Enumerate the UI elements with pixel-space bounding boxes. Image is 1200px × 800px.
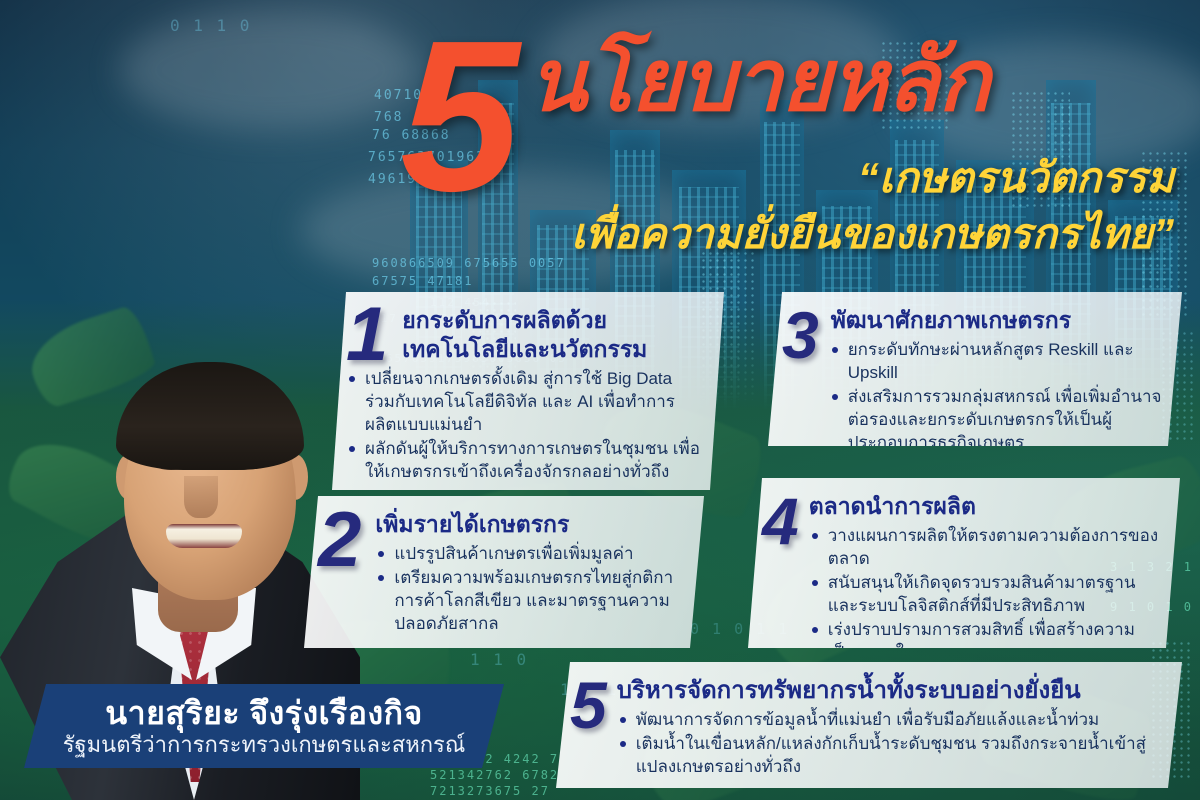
subtitle-line-2: เพื่อความยั่งยืนของเกษตรกรไทย” bbox=[534, 206, 1174, 262]
policy-title-1: ยกระดับการผลิตด้วย เทคโนโลยีและนวัตกรรม bbox=[402, 306, 706, 364]
big-number-five: 5 bbox=[400, 8, 512, 223]
list-item: วางแผนการผลิตให้ตรงตามความต้องการของตลาด bbox=[809, 524, 1162, 570]
policy-title-5: บริหารจัดการทรัพยากรน้ำทั้งระบบอย่างยั่ง… bbox=[617, 676, 1164, 705]
list-item: เปลี่ยนจากเกษตรดั้งเดิม สู่การใช้ Big Da… bbox=[346, 367, 706, 436]
policy-bullets-1: เปลี่ยนจากเกษตรดั้งเดิม สู่การใช้ Big Da… bbox=[346, 367, 706, 483]
hair bbox=[116, 362, 304, 470]
minister-name-banner: นายสุริยะ จึงรุ่งเรืองกิจ รัฐมนตรีว่าการ… bbox=[24, 684, 504, 768]
policy-title-4: ตลาดนำการผลิต bbox=[809, 492, 1162, 521]
page-subtitle: “เกษตรนวัตกรรม เพื่อความยั่งยืนของเกษตรก… bbox=[534, 150, 1174, 262]
policy-number-1: 1 bbox=[346, 304, 392, 366]
mouth bbox=[166, 524, 242, 548]
list-item: ส่งเสริมการรวมกลุ่มสหกรณ์ เพื่อเพิ่มอำนา… bbox=[829, 385, 1164, 454]
policy-number-3: 3 bbox=[782, 304, 823, 366]
minister-role: รัฐมนตรีว่าการกระทรวงเกษตรและสหกรณ์ bbox=[63, 731, 466, 758]
infographic-canvas: 40710 768 76 68868 765763701963 496196 6… bbox=[0, 0, 1200, 800]
list-item: ยกระดับทักษะผ่านหลักสูตร Reskill และ Ups… bbox=[829, 338, 1164, 384]
list-item: สนับสนุนให้เกิดจุดรวบรวมสินค้ามาตรฐานและ… bbox=[809, 571, 1162, 617]
list-item: เติมน้ำในเขื่อนหลัก/แหล่งกักเก็บน้ำระดับ… bbox=[617, 732, 1164, 778]
policy-title-2: เพิ่มรายได้เกษตรกร bbox=[375, 510, 686, 539]
policy-number-2: 2 bbox=[318, 508, 365, 570]
policy-number-5: 5 bbox=[570, 674, 611, 736]
nose bbox=[184, 476, 218, 518]
policy-number-4: 4 bbox=[762, 490, 803, 552]
subtitle-line-1: “เกษตรนวัตกรรม bbox=[534, 150, 1174, 206]
policy-title-1-line2: เทคโนโลยีและนวัตกรรม bbox=[402, 335, 706, 364]
list-item: ผลักดันผู้ให้บริการทางการเกษตรในชุมชน เพ… bbox=[346, 437, 706, 483]
policy-bullets-3: ยกระดับทักษะผ่านหลักสูตร Reskill และ Ups… bbox=[829, 338, 1164, 454]
policy-card-3: 3 พัฒนาศักยภาพเกษตรกร ยกระดับทักษะผ่านหล… bbox=[768, 292, 1182, 446]
list-item: พัฒนาการจัดการข้อมูลน้ำที่แม่นยำ เพื่อรั… bbox=[617, 708, 1164, 731]
policy-bullets-2: แปรรูปสินค้าเกษตรเพื่อเพิ่มมูลค่า เตรียม… bbox=[375, 542, 686, 635]
policy-card-4: 4 ตลาดนำการผลิต วางแผนการผลิตให้ตรงตามคว… bbox=[748, 478, 1180, 648]
minister-name: นายสุริยะ จึงรุ่งเรืองกิจ bbox=[105, 695, 422, 731]
policy-bullets-5: พัฒนาการจัดการข้อมูลน้ำที่แม่นยำ เพื่อรั… bbox=[617, 708, 1164, 778]
policy-card-2: 2 เพิ่มรายได้เกษตรกร แปรรูปสินค้าเกษตรเพ… bbox=[304, 496, 704, 648]
page-title: นโยบายหลัก bbox=[528, 38, 989, 124]
list-item: เตรียมความพร้อมเกษตรกรไทยสู่กติกาการค้าโ… bbox=[375, 566, 686, 635]
policy-card-1: 1 ยกระดับการผลิตด้วย เทคโนโลยีและนวัตกรร… bbox=[332, 292, 724, 490]
policy-title-3: พัฒนาศักยภาพเกษตรกร bbox=[831, 306, 1164, 335]
policy-card-5: 5 บริหารจัดการทรัพยากรน้ำทั้งระบบอย่างยั… bbox=[556, 662, 1182, 788]
list-item: แปรรูปสินค้าเกษตรเพื่อเพิ่มมูลค่า bbox=[375, 542, 686, 565]
policy-bullets-4: วางแผนการผลิตให้ตรงตามความต้องการของตลาด… bbox=[809, 524, 1162, 664]
policy-title-1-line1: ยกระดับการผลิตด้วย bbox=[402, 306, 706, 335]
